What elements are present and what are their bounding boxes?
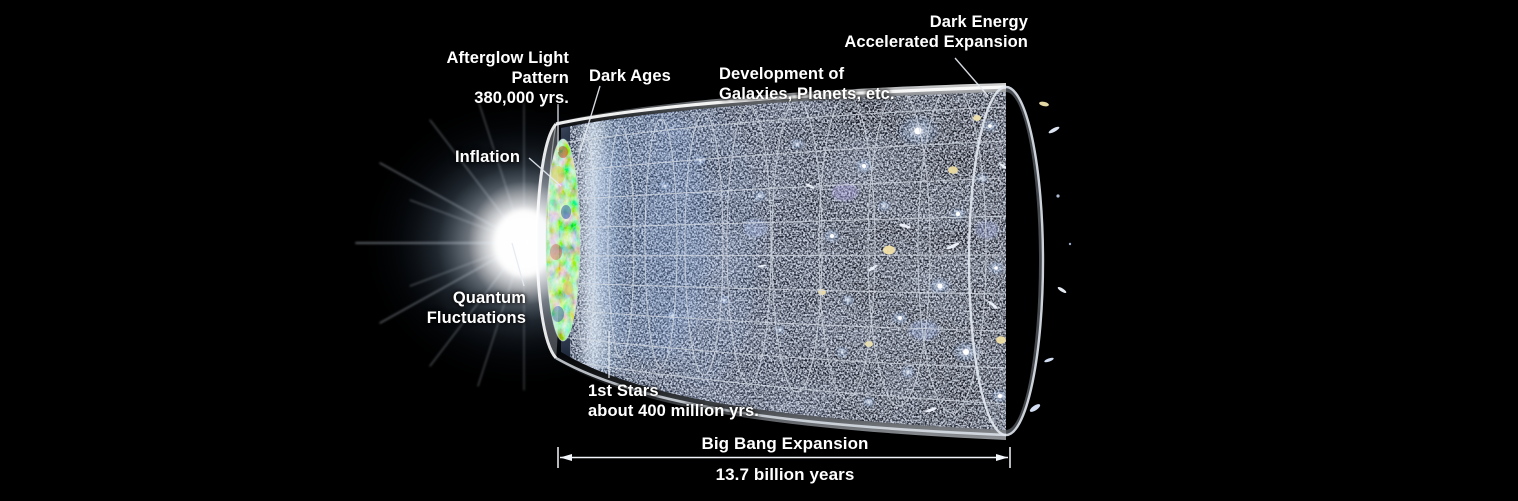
figure-canvas: Afterglow Light Pattern 380,000 yrs. Dar… — [0, 0, 1518, 501]
universe-timeline-illustration — [0, 0, 1518, 501]
expansion-cone — [537, 83, 1071, 440]
